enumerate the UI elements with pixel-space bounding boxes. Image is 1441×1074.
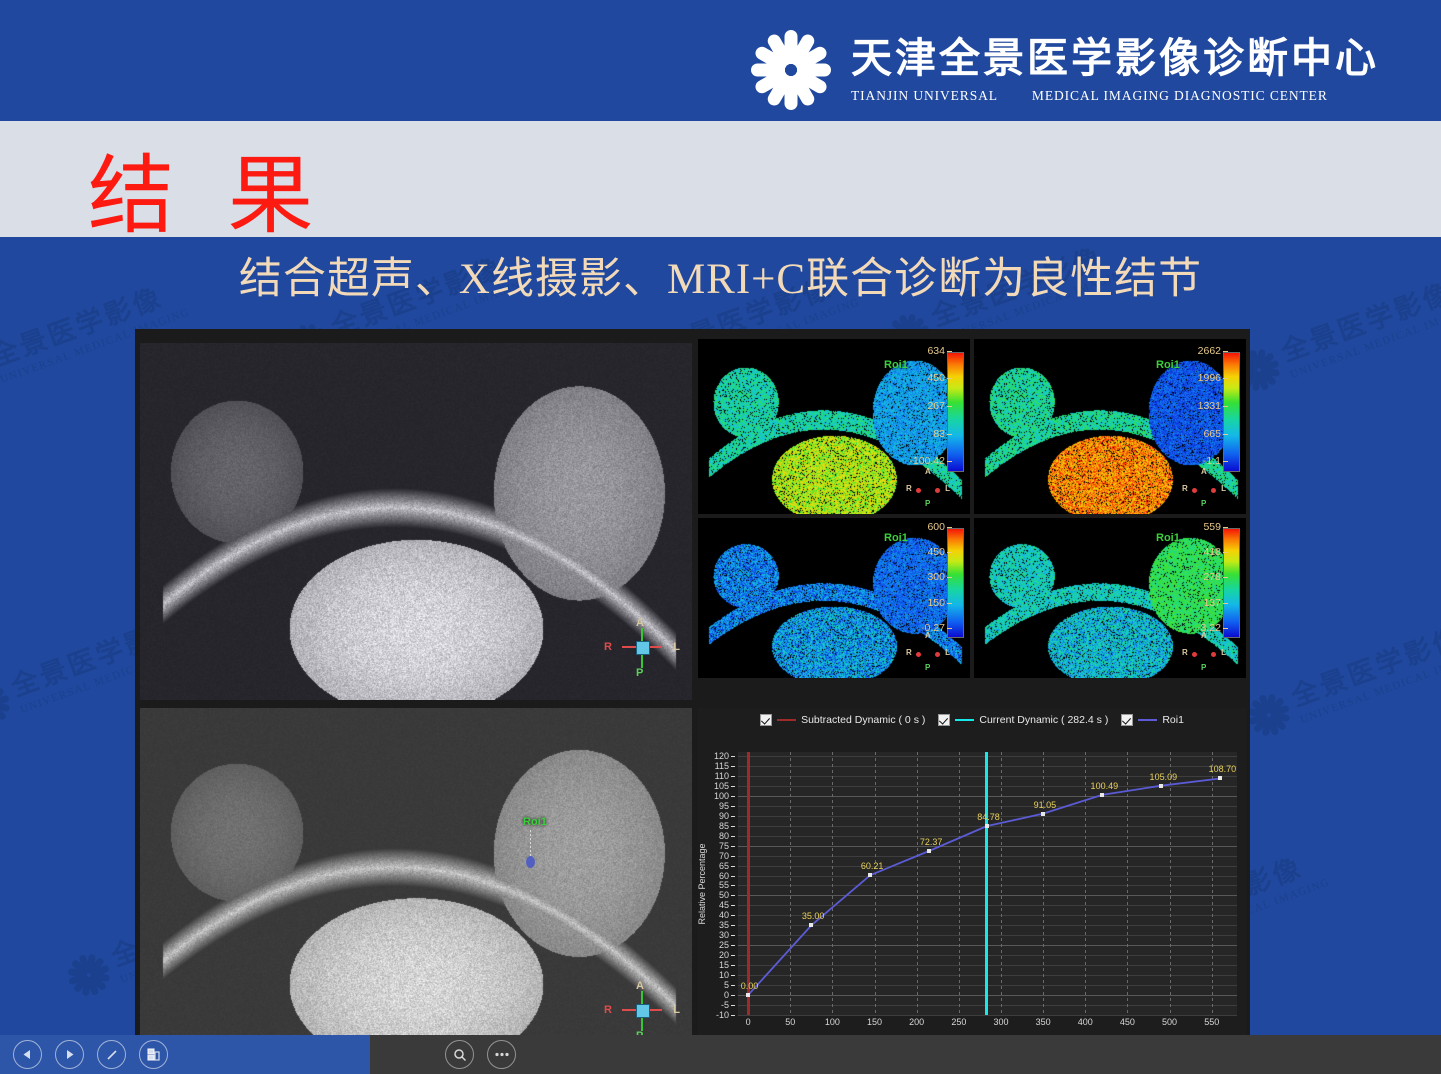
pen-button[interactable] bbox=[97, 1040, 126, 1069]
title-rule-bottom bbox=[0, 237, 1441, 241]
orient-right: R bbox=[604, 641, 612, 653]
legend-item-2[interactable]: Roi1 bbox=[1121, 714, 1184, 726]
presentation-toolbar-left bbox=[0, 1035, 383, 1074]
x-tick-label: 50 bbox=[785, 1017, 795, 1027]
cbar3-tick-0: 600 bbox=[927, 521, 945, 533]
cbar3-tick-1: 450 bbox=[927, 546, 945, 558]
title-rule-top bbox=[0, 117, 1441, 121]
x-tick-label: 250 bbox=[951, 1017, 966, 1027]
panel-dynamic-curve-chart[interactable]: Subtracted Dynamic ( 0 s )Current Dynami… bbox=[698, 708, 1246, 1053]
data-point[interactable] bbox=[1218, 776, 1222, 780]
next-slide-button[interactable] bbox=[55, 1040, 84, 1069]
colorbar-1 bbox=[947, 352, 964, 472]
orientation-marker-bottom: A P R L bbox=[614, 983, 670, 1039]
brand-name-cn: 天津全景医学影像诊断中心 bbox=[851, 36, 1379, 81]
legend-item-1[interactable]: Current Dynamic ( 282.4 s ) bbox=[938, 714, 1108, 726]
orient-right: R bbox=[1182, 648, 1188, 657]
y-tick-label: 45 bbox=[719, 900, 729, 910]
y-tick-label: 105 bbox=[714, 781, 729, 791]
title-band: 结 果 bbox=[0, 117, 1441, 241]
x-tick-label: 150 bbox=[867, 1017, 882, 1027]
cbar2-tick-3: 665 bbox=[1203, 428, 1221, 440]
orient-right: R bbox=[1182, 484, 1188, 493]
y-tick-label: 95 bbox=[719, 801, 729, 811]
data-point[interactable] bbox=[746, 993, 750, 997]
orient-left: L bbox=[945, 484, 950, 493]
roi-label-map2: Roi1 bbox=[1156, 359, 1180, 371]
data-point-label: 84.78 bbox=[977, 812, 1000, 822]
cbar2-tick-4: -1.1 bbox=[1203, 455, 1221, 467]
cbar4-tick-1: 418 bbox=[1203, 546, 1221, 558]
chart-plot-area: 0.0035.0060.2172.3784.7891.05100.49105.0… bbox=[738, 752, 1237, 1015]
cbar3-tick-3: 150 bbox=[927, 597, 945, 609]
y-tick-label: 15 bbox=[719, 960, 729, 970]
orient-anterior: A bbox=[1201, 467, 1207, 476]
y-tick-label: 100 bbox=[714, 791, 729, 801]
data-point-label: 105.09 bbox=[1150, 772, 1178, 782]
legend-checkbox[interactable] bbox=[938, 714, 950, 726]
y-tick-label: 115 bbox=[715, 761, 729, 771]
grayscale-mri-image-bottom bbox=[140, 708, 692, 1053]
presentation-toolbar-right bbox=[370, 1035, 1441, 1074]
brand-name-en: TIANJIN UNIVERSAL MEDICAL IMAGING DIAGNO… bbox=[851, 88, 1379, 104]
panel-perfusion-map-1[interactable]: Roi1 634 450 267 83 -100.42 A P R L bbox=[698, 339, 970, 514]
orient-left: L bbox=[673, 641, 680, 653]
cbar1-tick-1: 450 bbox=[927, 372, 945, 384]
data-point-label: 91.05 bbox=[1034, 800, 1057, 810]
cbar4-tick-0: 559 bbox=[1203, 521, 1221, 533]
data-point-label: 0.00 bbox=[741, 981, 759, 991]
orient-anterior: A bbox=[1201, 631, 1207, 640]
y-tick-label: 30 bbox=[719, 930, 729, 940]
orient-anterior: A bbox=[636, 617, 644, 629]
brand-en-part2: MEDICAL IMAGING DIAGNOSTIC CENTER bbox=[1032, 88, 1328, 104]
y-tick-label: 75 bbox=[719, 841, 729, 851]
page-title: 结 果 bbox=[88, 125, 330, 250]
brand-logo-block: 天津全景医学影像诊断中心 TIANJIN UNIVERSAL MEDICAL I… bbox=[749, 28, 1379, 112]
data-point[interactable] bbox=[868, 873, 872, 877]
orient-left: L bbox=[1221, 648, 1226, 657]
snowflake-logo-icon bbox=[749, 28, 833, 112]
orient-left: L bbox=[673, 1004, 680, 1016]
y-tick-label: -5 bbox=[721, 1000, 729, 1010]
chart-x-axis: 050100150200250300350400450500550 bbox=[738, 1017, 1237, 1033]
y-tick-label: 60 bbox=[719, 871, 729, 881]
orient-right: R bbox=[604, 1004, 612, 1016]
panel-sagittal-grayscale-bottom[interactable]: Roi1 A P R L bbox=[140, 708, 692, 1053]
cbar1-tick-4: -100.42 bbox=[909, 455, 945, 467]
x-tick-label: 0 bbox=[746, 1017, 751, 1027]
y-tick-label: 35 bbox=[719, 920, 729, 930]
orient-posterior: P bbox=[1201, 663, 1206, 672]
orient-left: L bbox=[945, 648, 950, 657]
medical-image-viewer: Roi1 A P R L Roi1 A P R L Roi1 634 450 2… bbox=[135, 329, 1250, 1058]
orientation-mini-map3: A P R L bbox=[908, 634, 948, 670]
data-point[interactable] bbox=[809, 923, 813, 927]
data-point[interactable] bbox=[985, 824, 989, 828]
orientation-mini-map1: A P R L bbox=[908, 470, 948, 506]
y-tick-label: 10 bbox=[719, 970, 729, 980]
orient-anterior: A bbox=[925, 467, 931, 476]
data-point[interactable] bbox=[1159, 784, 1163, 788]
orient-right: R bbox=[906, 648, 912, 657]
x-tick-label: 300 bbox=[993, 1017, 1008, 1027]
legend-swatch bbox=[955, 719, 974, 722]
cbar2-tick-1: 1996 bbox=[1198, 372, 1221, 384]
y-tick-label: 55 bbox=[719, 880, 729, 890]
legend-label: Subtracted Dynamic ( 0 s ) bbox=[801, 714, 925, 726]
x-tick-label: 550 bbox=[1204, 1017, 1219, 1027]
orient-posterior: P bbox=[636, 667, 643, 679]
panel-perfusion-map-3[interactable]: Roi1 600 450 300 150 -0.27 A P R L bbox=[698, 518, 970, 678]
slide-subtitle: 结合超声、X线摄影、MRI+C联合诊断为良性结节 bbox=[0, 244, 1441, 306]
x-tick-label: 350 bbox=[1036, 1017, 1051, 1027]
y-tick-label: 50 bbox=[719, 890, 729, 900]
cbar4-tick-2: 278 bbox=[1203, 571, 1221, 583]
orient-posterior: P bbox=[925, 663, 930, 672]
cbar3-tick-2: 300 bbox=[927, 571, 945, 583]
y-tick-label: 85 bbox=[719, 821, 729, 831]
roi-label-bottom: Roi1 bbox=[523, 816, 547, 828]
chart-y-axis: Relative Percentage -10-5051015202530354… bbox=[698, 752, 738, 1015]
y-tick-label: 5 bbox=[724, 980, 729, 990]
legend-checkbox[interactable] bbox=[760, 714, 772, 726]
data-point[interactable] bbox=[1041, 812, 1045, 816]
cbar1-tick-0: 634 bbox=[927, 345, 945, 357]
orient-posterior: P bbox=[1201, 499, 1206, 508]
roi1-curve bbox=[738, 752, 1237, 1015]
x-tick-label: 400 bbox=[1078, 1017, 1093, 1027]
legend-item-0[interactable]: Subtracted Dynamic ( 0 s ) bbox=[760, 714, 925, 726]
panel-perfusion-map-4[interactable]: Roi1 559 418 278 137 -3.22 A P R L bbox=[974, 518, 1246, 678]
x-tick-label: 500 bbox=[1162, 1017, 1177, 1027]
legend-swatch bbox=[1138, 719, 1157, 722]
y-tick-label: 65 bbox=[719, 861, 729, 871]
orient-right: R bbox=[906, 484, 912, 493]
y-tick-label: 20 bbox=[719, 950, 729, 960]
colorbar-3 bbox=[947, 528, 964, 638]
legend-label: Current Dynamic ( 282.4 s ) bbox=[979, 714, 1108, 726]
layout-button[interactable] bbox=[139, 1040, 168, 1069]
cbar1-tick-2: 267 bbox=[927, 400, 945, 412]
data-point[interactable] bbox=[1100, 793, 1104, 797]
orient-posterior: P bbox=[925, 499, 930, 508]
orientation-mini-map4: A P R L bbox=[1184, 634, 1224, 670]
data-point-label: 72.37 bbox=[920, 837, 943, 847]
cbar2-tick-2: 1331 bbox=[1198, 400, 1221, 412]
x-tick-label: 200 bbox=[909, 1017, 924, 1027]
y-tick-label: -10 bbox=[716, 1010, 729, 1020]
y-tick-label: 70 bbox=[719, 851, 729, 861]
data-point-label: 108.70 bbox=[1209, 764, 1237, 774]
data-point-label: 100.49 bbox=[1091, 781, 1119, 791]
roi-label-map3: Roi1 bbox=[884, 532, 908, 544]
y-tick-label: 120 bbox=[714, 751, 729, 761]
data-point-label: 60.21 bbox=[861, 861, 884, 871]
colorbar-4 bbox=[1223, 528, 1240, 638]
x-tick-label: 100 bbox=[825, 1017, 840, 1027]
x-tick-label: 450 bbox=[1120, 1017, 1135, 1027]
y-tick-label: 90 bbox=[719, 811, 729, 821]
legend-swatch bbox=[777, 719, 796, 722]
roi-label-map1: Roi1 bbox=[884, 359, 908, 371]
y-tick-label: 80 bbox=[719, 831, 729, 841]
cbar2-tick-0: 2662 bbox=[1198, 345, 1221, 357]
legend-label: Roi1 bbox=[1162, 714, 1184, 726]
chart-legend[interactable]: Subtracted Dynamic ( 0 s )Current Dynami… bbox=[698, 714, 1246, 726]
roi-label-map4: Roi1 bbox=[1156, 532, 1180, 544]
panel-perfusion-map-2[interactable]: Roi1 2662 1996 1331 665 -1.1 A P R L bbox=[974, 339, 1246, 514]
chart-y-axis-label: Relative Percentage bbox=[698, 843, 707, 924]
slide-header: 天津全景医学影像诊断中心 TIANJIN UNIVERSAL MEDICAL I… bbox=[0, 0, 1441, 117]
orient-left: L bbox=[1221, 484, 1226, 493]
orientation-mini-map2: A P R L bbox=[1184, 470, 1224, 506]
cbar1-tick-3: 83 bbox=[933, 428, 945, 440]
legend-checkbox[interactable] bbox=[1121, 714, 1133, 726]
more-options-button[interactable] bbox=[487, 1040, 516, 1069]
brand-en-part1: TIANJIN UNIVERSAL bbox=[851, 88, 998, 104]
y-tick-label: 110 bbox=[715, 771, 729, 781]
data-point-label: 35.00 bbox=[802, 911, 825, 921]
colorbar-2 bbox=[1223, 352, 1240, 472]
zoom-button[interactable] bbox=[445, 1040, 474, 1069]
panel-sagittal-grayscale-top[interactable]: Roi1 A P R L bbox=[140, 343, 692, 700]
data-point[interactable] bbox=[927, 849, 931, 853]
y-tick-label: 25 bbox=[719, 940, 729, 950]
orient-anterior: A bbox=[925, 631, 931, 640]
cbar4-tick-3: 137 bbox=[1203, 597, 1221, 609]
orient-anterior: A bbox=[636, 980, 644, 992]
y-tick-label: 0 bbox=[724, 990, 729, 1000]
previous-slide-button[interactable] bbox=[13, 1040, 42, 1069]
orientation-marker-top: A P R L bbox=[614, 620, 670, 676]
y-tick-label: 40 bbox=[719, 910, 729, 920]
